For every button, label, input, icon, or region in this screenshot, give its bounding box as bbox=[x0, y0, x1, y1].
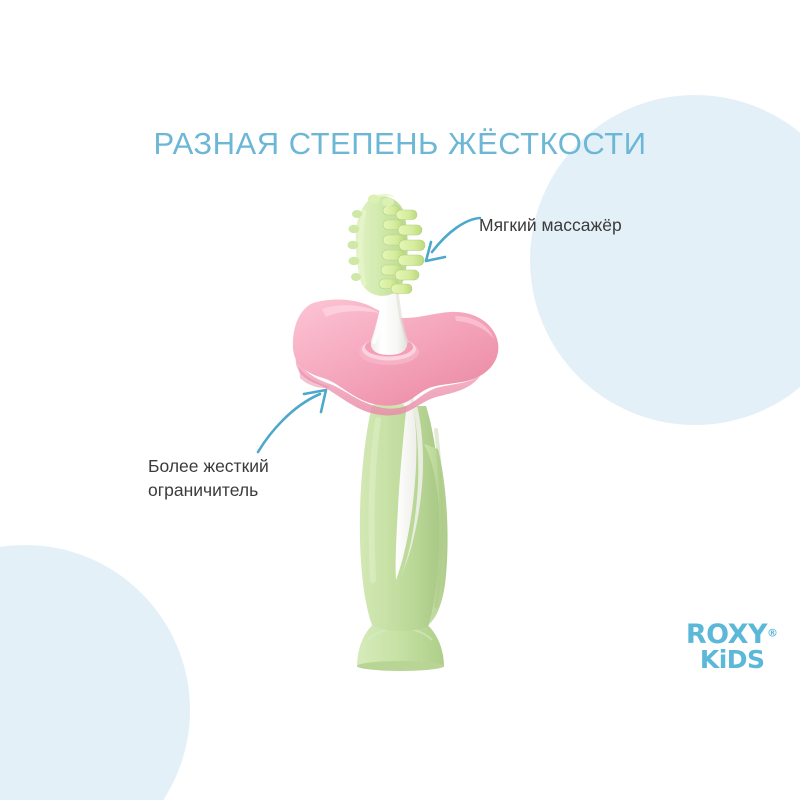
callout-label-soft-massager: Мягкий массажёр bbox=[479, 213, 622, 237]
infographic-canvas: РАЗНАЯ СТЕПЕНЬ ЖЁСТКОСТИ bbox=[0, 0, 800, 800]
product-illustration bbox=[0, 0, 800, 800]
logo-kids-text: KiDS bbox=[700, 648, 778, 672]
brand-logo: ROXY® KiDS bbox=[686, 622, 778, 672]
callout-arrow-soft-massager bbox=[414, 212, 484, 270]
green-handle bbox=[360, 398, 448, 631]
logo-roxy-text: ROXY bbox=[686, 622, 767, 648]
registered-trademark-icon: ® bbox=[767, 627, 778, 640]
callout-label-firmer-guard: Более жесткий ограничитель bbox=[148, 454, 269, 502]
callout-arrow-firmer-guard bbox=[254, 384, 336, 456]
